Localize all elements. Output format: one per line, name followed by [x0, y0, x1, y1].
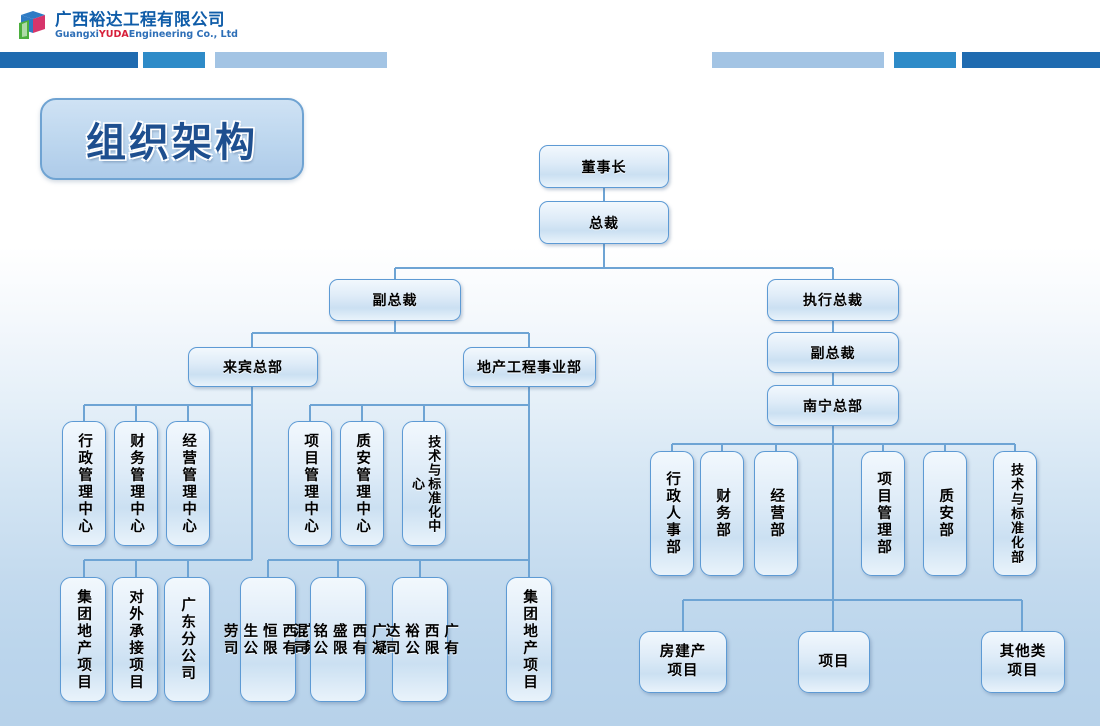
node-subsidiary-0[interactable]: 广务 西有 恒限 生公 劳司: [240, 577, 296, 702]
node-subsidiary-1[interactable]: 广凝 西有 盛限 铭公 混司: [310, 577, 366, 702]
org-chart: 董事长 总裁 副总裁 来宾总部 地产工程事业部 行政管理中心 财务管理中心 经营…: [0, 0, 1100, 726]
slide-canvas: 广西裕达工程有限公司 GuangxiYUDAEngineering Co., L…: [0, 0, 1100, 726]
node-president[interactable]: 总裁: [539, 201, 669, 244]
node-laibin-project-0[interactable]: 集团地产项目: [60, 577, 106, 702]
node-nanning-dept-a-0[interactable]: 行政人事部: [650, 451, 694, 576]
node-laibin-headquarters[interactable]: 来宾总部: [188, 347, 318, 387]
node-executive-president[interactable]: 执行总裁: [767, 279, 899, 321]
node-realestate-center-0[interactable]: 项目管理中心: [288, 421, 332, 546]
node-nanning-dept-a-2[interactable]: 经营部: [754, 451, 798, 576]
node-vice-president-left[interactable]: 副总裁: [329, 279, 461, 321]
node-nanning-project-2[interactable]: 其他类 项目: [981, 631, 1065, 693]
node-laibin-center-1[interactable]: 财务管理中心: [114, 421, 158, 546]
node-vice-president-right[interactable]: 副总裁: [767, 332, 899, 373]
node-nanning-dept-b-2[interactable]: 技术与标准化部: [993, 451, 1037, 576]
node-realestate-division[interactable]: 地产工程事业部: [463, 347, 596, 387]
node-subsidiary-1-label: 广凝 西有 盛限 铭公 混司: [289, 623, 387, 657]
node-nanning-dept-b-1[interactable]: 质安部: [923, 451, 967, 576]
node-nanning-headquarters[interactable]: 南宁总部: [767, 385, 899, 426]
node-realestate-center-2[interactable]: 技术与标准化中心: [402, 421, 446, 546]
node-laibin-center-2[interactable]: 经营管理中心: [166, 421, 210, 546]
node-realestate-center-1[interactable]: 质安管理中心: [340, 421, 384, 546]
node-laibin-center-0[interactable]: 行政管理中心: [62, 421, 106, 546]
node-nanning-project-0-label: 房建产 项目: [660, 643, 707, 681]
node-chairman[interactable]: 董事长: [539, 145, 669, 188]
node-nanning-project-1[interactable]: 项目: [798, 631, 870, 693]
node-nanning-dept-a-1[interactable]: 财务部: [700, 451, 744, 576]
node-subsidiary-2-label: 广有 西限 裕公 达司: [381, 623, 459, 657]
node-nanning-project-1-label: 项目: [819, 653, 850, 672]
node-laibin-project-1[interactable]: 对外承接项目: [112, 577, 158, 702]
node-nanning-project-0[interactable]: 房建产 项目: [639, 631, 727, 693]
node-laibin-project-2[interactable]: 广东分公司: [164, 577, 210, 702]
node-nanning-project-2-label: 其他类 项目: [1000, 643, 1047, 681]
node-subsidiary-2[interactable]: 广有 西限 裕公 达司: [392, 577, 448, 702]
node-nanning-dept-b-0[interactable]: 项目管理部: [861, 451, 905, 576]
node-realestate-group-project[interactable]: 集团地产项目: [506, 577, 552, 702]
